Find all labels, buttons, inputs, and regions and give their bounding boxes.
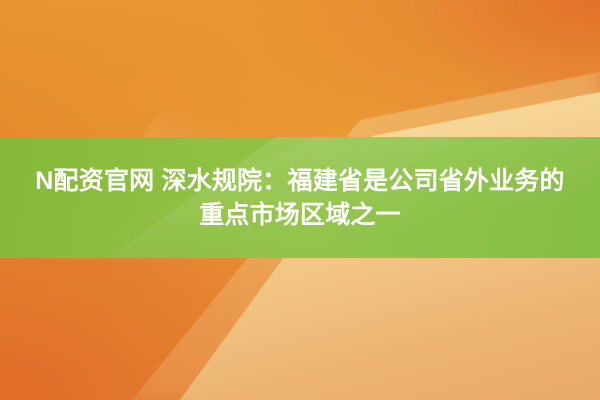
promo-banner: N配资官网 深水规院：福建省是公司省外业务的 重点市场区域之一 [0,0,600,400]
headline-line-2: 重点市场区域之一 [199,201,401,229]
headline-green-band: N配资官网 深水规院：福建省是公司省外业务的 重点市场区域之一 [0,137,600,258]
headline-block: N配资官网 深水规院：福建省是公司省外业务的 重点市场区域之一 [0,137,600,258]
headline-line-1: N配资官网 深水规院：福建省是公司省外业务的 [35,167,564,195]
